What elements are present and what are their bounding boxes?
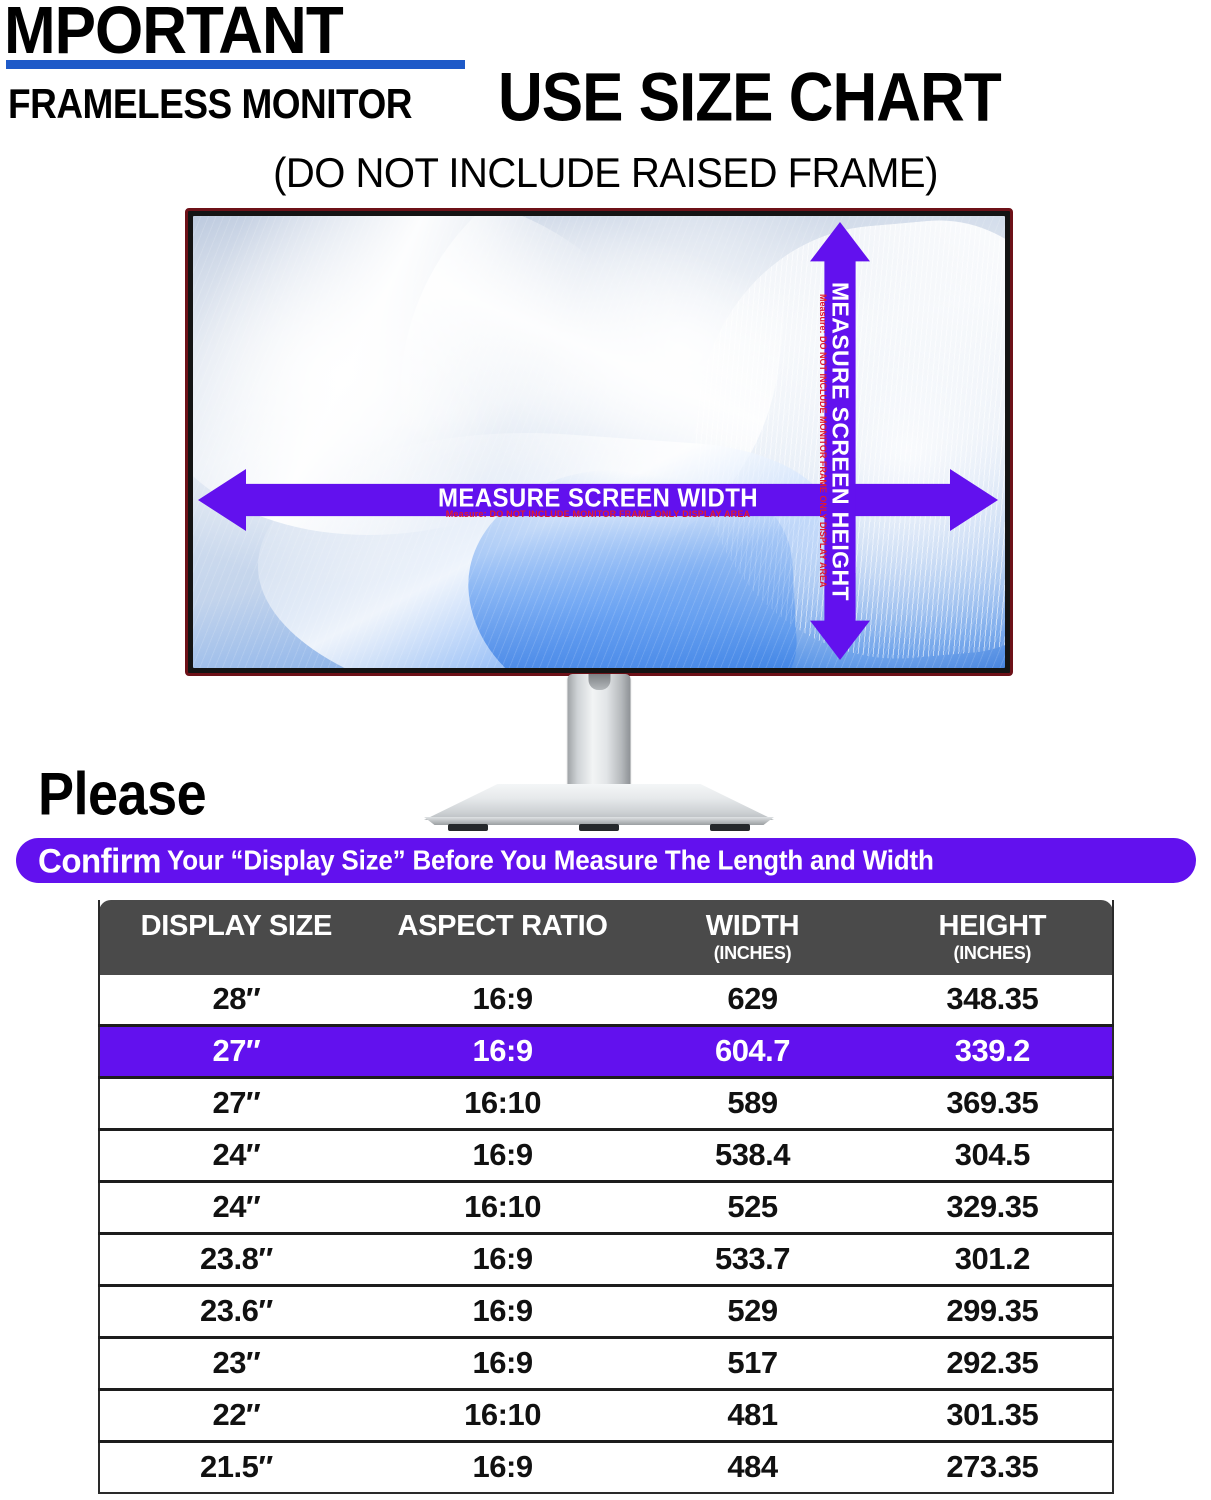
wallpaper-striations (193, 216, 1005, 668)
cell-height: 301.35 (873, 1390, 1113, 1442)
cell-aspect-ratio: 16:9 (373, 975, 633, 1026)
column-header-height-title: HEIGHT (938, 910, 1046, 942)
cell-height: 329.35 (873, 1182, 1113, 1234)
column-header-width-unit: (INCHES) (632, 943, 872, 963)
table-row[interactable]: 22″16:10481301.35 (99, 1390, 1113, 1442)
wallpaper-petal-1 (193, 216, 675, 573)
column-header-aspect-ratio: ASPECT RATIO (373, 900, 633, 975)
cell-aspect-ratio: 16:10 (373, 1390, 633, 1442)
subtitle-frameless-monitor: FRAMELESS MONITOR (8, 82, 412, 127)
cell-display-size: 24″ (99, 1130, 373, 1182)
monitor-base-surface (424, 784, 774, 820)
table-row[interactable]: 27″16:9604.7339.2 (99, 1026, 1113, 1078)
confirm-banner-strong: Confirm (38, 841, 161, 881)
table-row[interactable]: 23″16:9517292.35 (99, 1338, 1113, 1390)
cell-width: 517 (632, 1338, 872, 1390)
cell-aspect-ratio: 16:9 (373, 1130, 633, 1182)
monitor-base-foot-center (579, 824, 619, 831)
size-chart-table: DISPLAY SIZE ASPECT RATIO WIDTH (INCHES)… (98, 900, 1114, 1494)
measure-height-label: MEASURE SCREEN HEIGHT (810, 222, 870, 660)
monitor-bezel (185, 208, 1013, 676)
cell-aspect-ratio: 16:9 (373, 1286, 633, 1338)
page-subtitle-note: (DO NOT INCLUDE RAISED FRAME) (0, 150, 1211, 197)
wallpaper-petal-4 (249, 413, 836, 668)
title-underline-rule (6, 60, 465, 69)
table-row[interactable]: 24″16:10525329.35 (99, 1182, 1113, 1234)
cell-height: 348.35 (873, 975, 1113, 1026)
confirm-banner-text: Your “Display Size” Before You Measure T… (167, 844, 934, 877)
cell-height: 369.35 (873, 1078, 1113, 1130)
cell-aspect-ratio: 16:10 (373, 1078, 633, 1130)
table-row[interactable]: 24″16:9538.4304.5 (99, 1130, 1113, 1182)
column-header-width-title: WIDTH (706, 910, 800, 942)
cell-width: 629 (632, 975, 872, 1026)
column-header-display-size-line1: DISPLAY (141, 910, 261, 942)
cell-height: 304.5 (873, 1130, 1113, 1182)
cell-display-size: 24″ (99, 1182, 373, 1234)
cell-display-size: 23″ (99, 1338, 373, 1390)
column-header-display-size-line2: SIZE (269, 910, 332, 942)
cell-display-size: 22″ (99, 1390, 373, 1442)
column-header-display-size: DISPLAY SIZE (99, 900, 373, 975)
monitor-stand-neck (568, 674, 631, 790)
column-header-aspect-ratio-line2: RATIO (521, 910, 608, 942)
cell-display-size: 27″ (99, 1078, 373, 1130)
cell-width: 529 (632, 1286, 872, 1338)
cell-height: 292.35 (873, 1338, 1113, 1390)
cell-aspect-ratio: 16:10 (373, 1182, 633, 1234)
cell-width: 481 (632, 1390, 872, 1442)
cell-width: 484 (632, 1442, 872, 1494)
cell-height: 339.2 (873, 1026, 1113, 1078)
cell-aspect-ratio: 16:9 (373, 1234, 633, 1286)
table-row[interactable]: 27″16:10589369.35 (99, 1078, 1113, 1130)
cell-display-size: 21.5″ (99, 1442, 373, 1494)
cell-display-size: 27″ (99, 1026, 373, 1078)
page-title-important: MPORTANT (4, 0, 343, 65)
cell-height: 301.2 (873, 1234, 1113, 1286)
cell-width: 538.4 (632, 1130, 872, 1182)
measure-width-note: Measure: DO NOT INCLUDE MONITOR FRAME ON… (198, 509, 998, 519)
cell-display-size: 28″ (99, 975, 373, 1026)
monitor-screen-wallpaper (193, 216, 1005, 668)
cell-width: 589 (632, 1078, 872, 1130)
cell-aspect-ratio: 16:9 (373, 1338, 633, 1390)
table-row[interactable]: 23.8″16:9533.7301.2 (99, 1234, 1113, 1286)
cell-display-size: 23.6″ (99, 1286, 373, 1338)
column-header-aspect-ratio-line1: ASPECT (397, 910, 513, 942)
cell-aspect-ratio: 16:9 (373, 1026, 633, 1078)
monitor-base-foot-right (710, 824, 750, 831)
monitor-stand-base (424, 784, 774, 828)
please-heading: Please (38, 762, 206, 827)
monitor-base-foot-left (448, 824, 488, 831)
column-header-height: HEIGHT (INCHES) (873, 900, 1113, 975)
cell-width: 533.7 (632, 1234, 872, 1286)
confirm-banner: Confirm Your “Display Size” Before You M… (16, 838, 1196, 883)
cell-aspect-ratio: 16:9 (373, 1442, 633, 1494)
page-title-use-size-chart: USE SIZE CHART (498, 62, 1001, 135)
cell-height: 273.35 (873, 1442, 1113, 1494)
wallpaper-petal-2 (380, 216, 801, 590)
size-chart-body: 28″16:9629348.3527″16:9604.7339.227″16:1… (99, 975, 1113, 1493)
cell-height: 299.35 (873, 1286, 1113, 1338)
table-row[interactable]: 28″16:9629348.35 (99, 975, 1113, 1026)
monitor-stand-cable-slot (588, 674, 610, 690)
size-chart-header-row: DISPLAY SIZE ASPECT RATIO WIDTH (INCHES)… (99, 900, 1113, 975)
cell-display-size: 23.8″ (99, 1234, 373, 1286)
table-row[interactable]: 21.5″16:9484273.35 (99, 1442, 1113, 1494)
column-header-width: WIDTH (INCHES) (632, 900, 872, 975)
table-row[interactable]: 23.6″16:9529299.35 (99, 1286, 1113, 1338)
cell-width: 604.7 (632, 1026, 872, 1078)
cell-width: 525 (632, 1182, 872, 1234)
column-header-height-unit: (INCHES) (873, 943, 1112, 963)
